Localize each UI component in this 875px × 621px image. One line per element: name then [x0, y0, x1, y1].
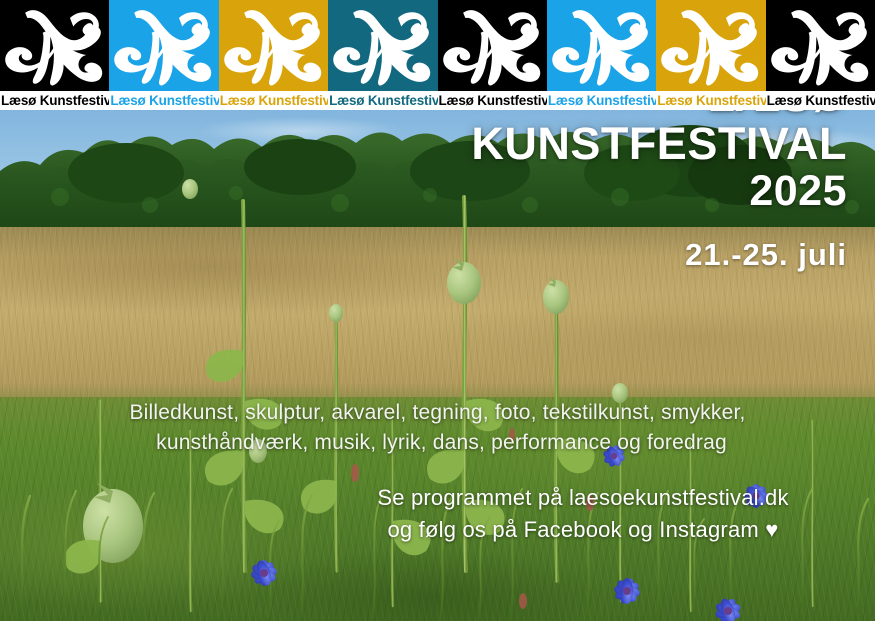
tagline-line-2: kunsthåndværk, musik, lyrik, dans, perfo… [0, 428, 875, 458]
logo-tile-caption-3: Læsø Kunstfestival [219, 91, 328, 110]
brushstroke-figure-icon [438, 0, 547, 91]
logo-tile-caption-6: Læsø Kunstfestival [547, 91, 656, 110]
brushstroke-figure-icon [219, 0, 328, 91]
logo-caption-text: Læsø Kunstfestival [0, 91, 109, 110]
logo-caption-text: Læsø Kunstfestival [328, 91, 437, 110]
logo-caption-text: Læsø Kunstfestival [219, 91, 328, 110]
festival-dates: 21.-25. juli [471, 237, 847, 273]
logo-tile-caption-8: Læsø Kunstfestival [766, 91, 875, 110]
logo-tile-art-6 [547, 0, 656, 91]
brushstroke-figure-icon [547, 0, 656, 91]
logo-tile-4: Læsø Kunstfestival [328, 0, 437, 110]
logo-tile-6: Læsø Kunstfestival [547, 0, 656, 110]
logo-tile-caption-7: Læsø Kunstfestival [656, 91, 765, 110]
brushstroke-figure-icon [328, 0, 437, 91]
logo-tile-caption-5: Læsø Kunstfestival [438, 91, 547, 110]
cta-social-line: og følg os på Facebook og Instagram ♥ [333, 514, 833, 546]
logo-tile-1: Læsø Kunstfestival [0, 0, 109, 110]
logo-tile-art-2 [109, 0, 218, 91]
call-to-action: Se programmet på laesoekunstfestival.dk … [333, 482, 833, 546]
logo-tile-3: Læsø Kunstfestival [219, 0, 328, 110]
logo-caption-text: Læsø Kunstfestival [438, 91, 547, 110]
logo-tile-7: Læsø Kunstfestival [656, 0, 765, 110]
logo-tile-8: Læsø Kunstfestival [766, 0, 875, 110]
cta-website-line[interactable]: Se programmet på laesoekunstfestival.dk [333, 482, 833, 514]
logo-caption-text: Læsø Kunstfestival [766, 91, 875, 110]
logo-tile-art-4 [328, 0, 437, 91]
headline-line-kunstfestival: KUNSTFESTIVAL [471, 121, 847, 166]
disciplines-tagline: Billedkunst, skulptur, akvarel, tegning,… [0, 398, 875, 458]
logo-tile-art-5 [438, 0, 547, 91]
logo-caption-text: Læsø Kunstfestival [109, 91, 218, 110]
headline-line-year: 2025 [471, 170, 847, 213]
logo-tile-art-1 [0, 0, 109, 91]
logo-caption-text: Læsø Kunstfestival [547, 91, 656, 110]
brushstroke-figure-icon [0, 0, 109, 91]
cta-social-text: og følg os på Facebook og Instagram [387, 517, 758, 542]
logo-tile-caption-1: Læsø Kunstfestival [0, 91, 109, 110]
logo-caption-text: Læsø Kunstfestival [656, 91, 765, 110]
logo-strip: Læsø Kunstfestival Læsø Kunstfestival Læ… [0, 0, 875, 110]
heart-icon: ♥ [765, 517, 778, 542]
logo-tile-2: Læsø Kunstfestival [109, 0, 218, 110]
tagline-line-1: Billedkunst, skulptur, akvarel, tegning,… [0, 398, 875, 428]
brushstroke-figure-icon [109, 0, 218, 91]
brushstroke-figure-icon [766, 0, 875, 91]
logo-tile-caption-4: Læsø Kunstfestival [328, 91, 437, 110]
logo-tile-art-3 [219, 0, 328, 91]
festival-poster: LÆSØ KUNSTFESTIVAL 2025 21.-25. juli Bil… [0, 0, 875, 621]
brushstroke-figure-icon [656, 0, 765, 91]
logo-tile-art-8 [766, 0, 875, 91]
logo-tile-5: Læsø Kunstfestival [438, 0, 547, 110]
logo-tile-art-7 [656, 0, 765, 91]
logo-tile-caption-2: Læsø Kunstfestival [109, 91, 218, 110]
